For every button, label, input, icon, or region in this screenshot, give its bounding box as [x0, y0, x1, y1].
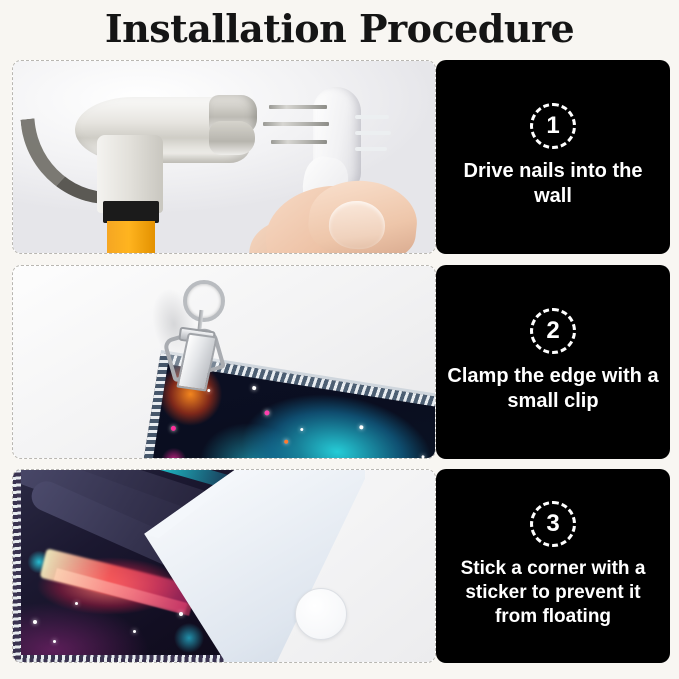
- installation-procedure-infographic: Installation Procedure: [0, 0, 679, 679]
- step-1-photo-inner: [13, 61, 435, 253]
- tool-prong-icon: [355, 131, 391, 135]
- nail-icon: [263, 122, 329, 126]
- step-3-photo-inner: [13, 470, 435, 662]
- step-2-caption-panel: 2 Clamp the edge with a small clip: [436, 265, 670, 459]
- star-icon: [207, 389, 210, 392]
- star-icon: [359, 425, 364, 430]
- step-3-photo: [12, 469, 436, 663]
- star-icon: [75, 602, 78, 605]
- star-icon: [53, 640, 56, 643]
- step-row-3: 3 Stick a corner with a sticker to preve…: [12, 469, 670, 663]
- tool-prong-icon: [355, 115, 389, 119]
- star-icon: [133, 630, 136, 633]
- step-2-caption-text: Clamp the edge with a small clip: [446, 364, 660, 414]
- star-icon: [284, 439, 289, 444]
- step-3-badge: 3: [530, 501, 576, 547]
- adhesive-sticker-icon: [295, 588, 347, 640]
- nail-icon: [269, 105, 327, 109]
- tapestry-stitched-edge: [13, 470, 21, 662]
- step-2-badge: 2: [530, 308, 576, 354]
- step-1-badge: 1: [530, 103, 576, 149]
- star-icon: [421, 455, 424, 458]
- star-icon: [179, 612, 183, 616]
- star-icon: [171, 426, 177, 432]
- hammer-handle-icon: [107, 221, 155, 253]
- star-icon: [300, 428, 303, 431]
- step-1-caption-text: Drive nails into the wall: [446, 159, 660, 209]
- step-2-photo: [12, 265, 436, 459]
- step-1-photo: [12, 60, 436, 254]
- hammer-collar-icon: [103, 201, 159, 223]
- step-3-caption-panel: 3 Stick a corner with a sticker to preve…: [436, 469, 670, 663]
- nail-icon: [271, 140, 327, 144]
- step-2-number: 2: [530, 308, 576, 354]
- page-title: Installation Procedure: [0, 4, 679, 54]
- hammer-face-lower-icon: [209, 121, 255, 155]
- step-1-number: 1: [530, 103, 576, 149]
- clip-ring-icon: [183, 280, 225, 322]
- step-2-photo-inner: [13, 266, 435, 458]
- step-3-caption-text: Stick a corner with a sticker to prevent…: [446, 557, 660, 629]
- star-icon: [264, 410, 270, 416]
- step-row-1: 1 Drive nails into the wall: [12, 60, 670, 254]
- step-3-number: 3: [530, 501, 576, 547]
- tool-prong-icon: [355, 147, 387, 151]
- step-row-2: 2 Clamp the edge with a small clip: [12, 265, 670, 459]
- star-icon: [33, 620, 37, 624]
- step-1-caption-panel: 1 Drive nails into the wall: [436, 60, 670, 254]
- star-icon: [252, 386, 257, 391]
